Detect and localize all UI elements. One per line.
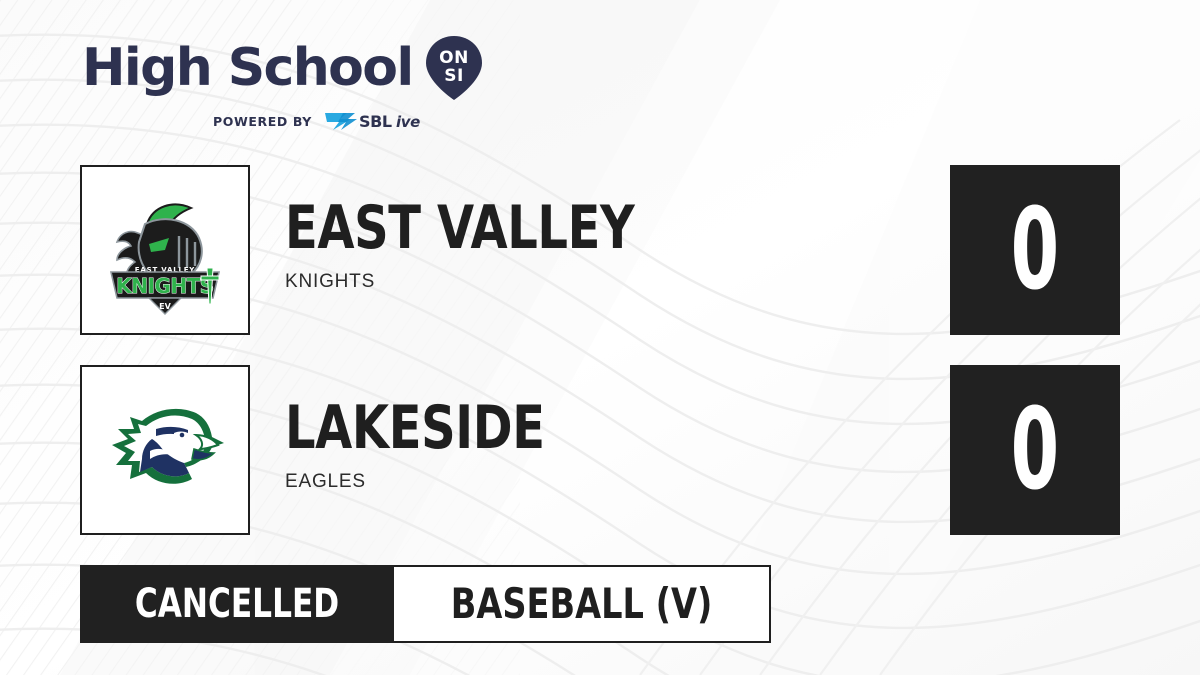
team-score-box: 0: [950, 365, 1120, 535]
sblive-logo-icon: SBL ive: [321, 110, 429, 132]
team-info: EAST VALLEY KNIGHTS: [285, 197, 885, 293]
team-score: 0: [1011, 394, 1059, 506]
sport-badge-label: BASEBALL (V): [451, 582, 713, 626]
team-mascot: EAGLES: [285, 471, 885, 493]
svg-text:SBL: SBL: [359, 112, 392, 131]
east-valley-knights-logo-icon: EAST VALLEY KNIGHTS EV: [95, 180, 235, 320]
svg-text:ive: ive: [396, 113, 420, 131]
team-mascot: KNIGHTS: [285, 271, 885, 293]
svg-text:KNIGHTS: KNIGHTS: [116, 274, 213, 298]
svg-text:ON: ON: [439, 48, 469, 68]
status-badge-label: CANCELLED: [135, 583, 339, 625]
sport-badge: BASEBALL (V): [394, 565, 771, 643]
team-info: LAKESIDE EAGLES: [285, 397, 885, 493]
team-name: EAST VALLEY: [285, 197, 765, 259]
status-badge: CANCELLED: [80, 565, 394, 643]
brand-wordmark: High School ON SI: [82, 34, 512, 102]
powered-by-row: POWERED BY SBL ive: [82, 110, 512, 132]
brand-wordmark-text: High School: [82, 40, 413, 96]
team-logo-card-lakeside: [80, 365, 250, 535]
game-status-bar: CANCELLED BASEBALL (V): [80, 565, 771, 643]
powered-by-label: POWERED BY: [213, 114, 312, 129]
svg-text:SI: SI: [444, 66, 464, 86]
lakeside-eagles-logo-icon: [100, 395, 230, 505]
team-score-box: 0: [950, 165, 1120, 335]
onsi-pin-icon: ON SI: [423, 34, 485, 102]
team-row: LAKESIDE EAGLES 0: [80, 365, 1120, 535]
brand-logo: High School ON SI POWERED BY SBL: [82, 34, 512, 134]
team-name: LAKESIDE: [285, 397, 765, 459]
team-logo-card-east-valley: EAST VALLEY KNIGHTS EV: [80, 165, 250, 335]
svg-text:EV: EV: [159, 302, 171, 311]
team-row: EAST VALLEY KNIGHTS EV EAST VALLEY KNIGH…: [80, 165, 1120, 335]
team-score: 0: [1011, 194, 1059, 306]
